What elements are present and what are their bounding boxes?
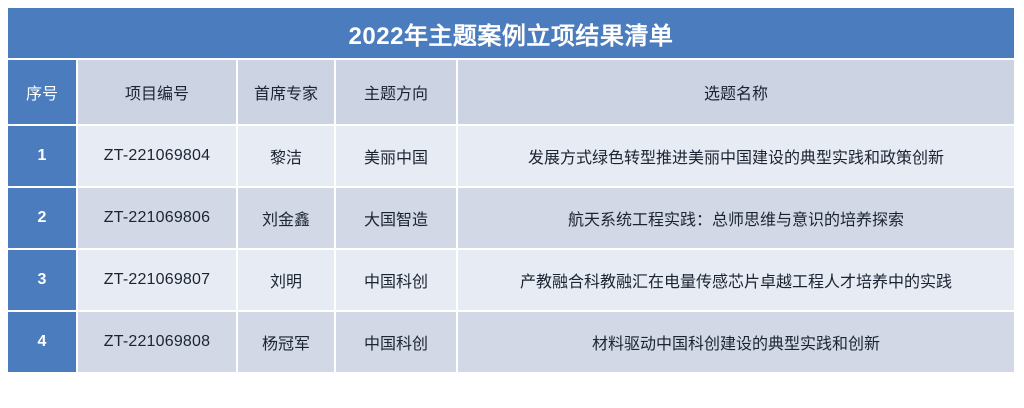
table-row: 4 ZT-221069808 杨冠军 中国科创 材料驱动中国科创建设的典型实践和…: [8, 312, 1014, 372]
column-header-chief-expert: 首席专家: [238, 60, 334, 124]
chief-expert-cell: 杨冠军: [238, 312, 334, 372]
table-row: 1 ZT-221069804 黎洁 美丽中国 发展方式绿色转型推进美丽中国建设的…: [8, 126, 1014, 186]
row-index-cell: 1: [8, 126, 76, 186]
column-header-theme-direction: 主题方向: [336, 60, 456, 124]
row-index-cell: 3: [8, 250, 76, 310]
project-code-cell: ZT-221069807: [78, 250, 236, 310]
topic-name-cell: 材料驱动中国科创建设的典型实践和创新: [458, 312, 1014, 372]
topic-name-cell: 航天系统工程实践：总师思维与意识的培养探索: [458, 188, 1014, 248]
table-header-row: 序号 项目编号 首席专家 主题方向 选题名称: [8, 60, 1014, 124]
theme-direction-cell: 大国智造: [336, 188, 456, 248]
project-code-cell: ZT-221069804: [78, 126, 236, 186]
project-results-table: 2022年主题案例立项结果清单 序号 项目编号 首席专家 主题方向 选题名称 1…: [6, 6, 1016, 374]
theme-direction-cell: 中国科创: [336, 312, 456, 372]
results-table-sheet: 2022年主题案例立项结果清单 序号 项目编号 首席专家 主题方向 选题名称 1…: [0, 0, 1024, 408]
project-code-cell: ZT-221069806: [78, 188, 236, 248]
theme-direction-cell: 中国科创: [336, 250, 456, 310]
chief-expert-cell: 刘金鑫: [238, 188, 334, 248]
topic-name-cell: 产教融合科教融汇在电量传感芯片卓越工程人才培养中的实践: [458, 250, 1014, 310]
table-title-row: 2022年主题案例立项结果清单: [8, 8, 1014, 58]
row-index-cell: 2: [8, 188, 76, 248]
chief-expert-cell: 刘明: [238, 250, 334, 310]
column-header-project-code: 项目编号: [78, 60, 236, 124]
project-code-cell: ZT-221069808: [78, 312, 236, 372]
topic-name-cell: 发展方式绿色转型推进美丽中国建设的典型实践和政策创新: [458, 126, 1014, 186]
row-index-cell: 4: [8, 312, 76, 372]
table-row: 2 ZT-221069806 刘金鑫 大国智造 航天系统工程实践：总师思维与意识…: [8, 188, 1014, 248]
chief-expert-cell: 黎洁: [238, 126, 334, 186]
column-header-index: 序号: [8, 60, 76, 124]
table-row: 3 ZT-221069807 刘明 中国科创 产教融合科教融汇在电量传感芯片卓越…: [8, 250, 1014, 310]
page-title: 2022年主题案例立项结果清单: [8, 8, 1014, 58]
theme-direction-cell: 美丽中国: [336, 126, 456, 186]
column-header-topic-name: 选题名称: [458, 60, 1014, 124]
